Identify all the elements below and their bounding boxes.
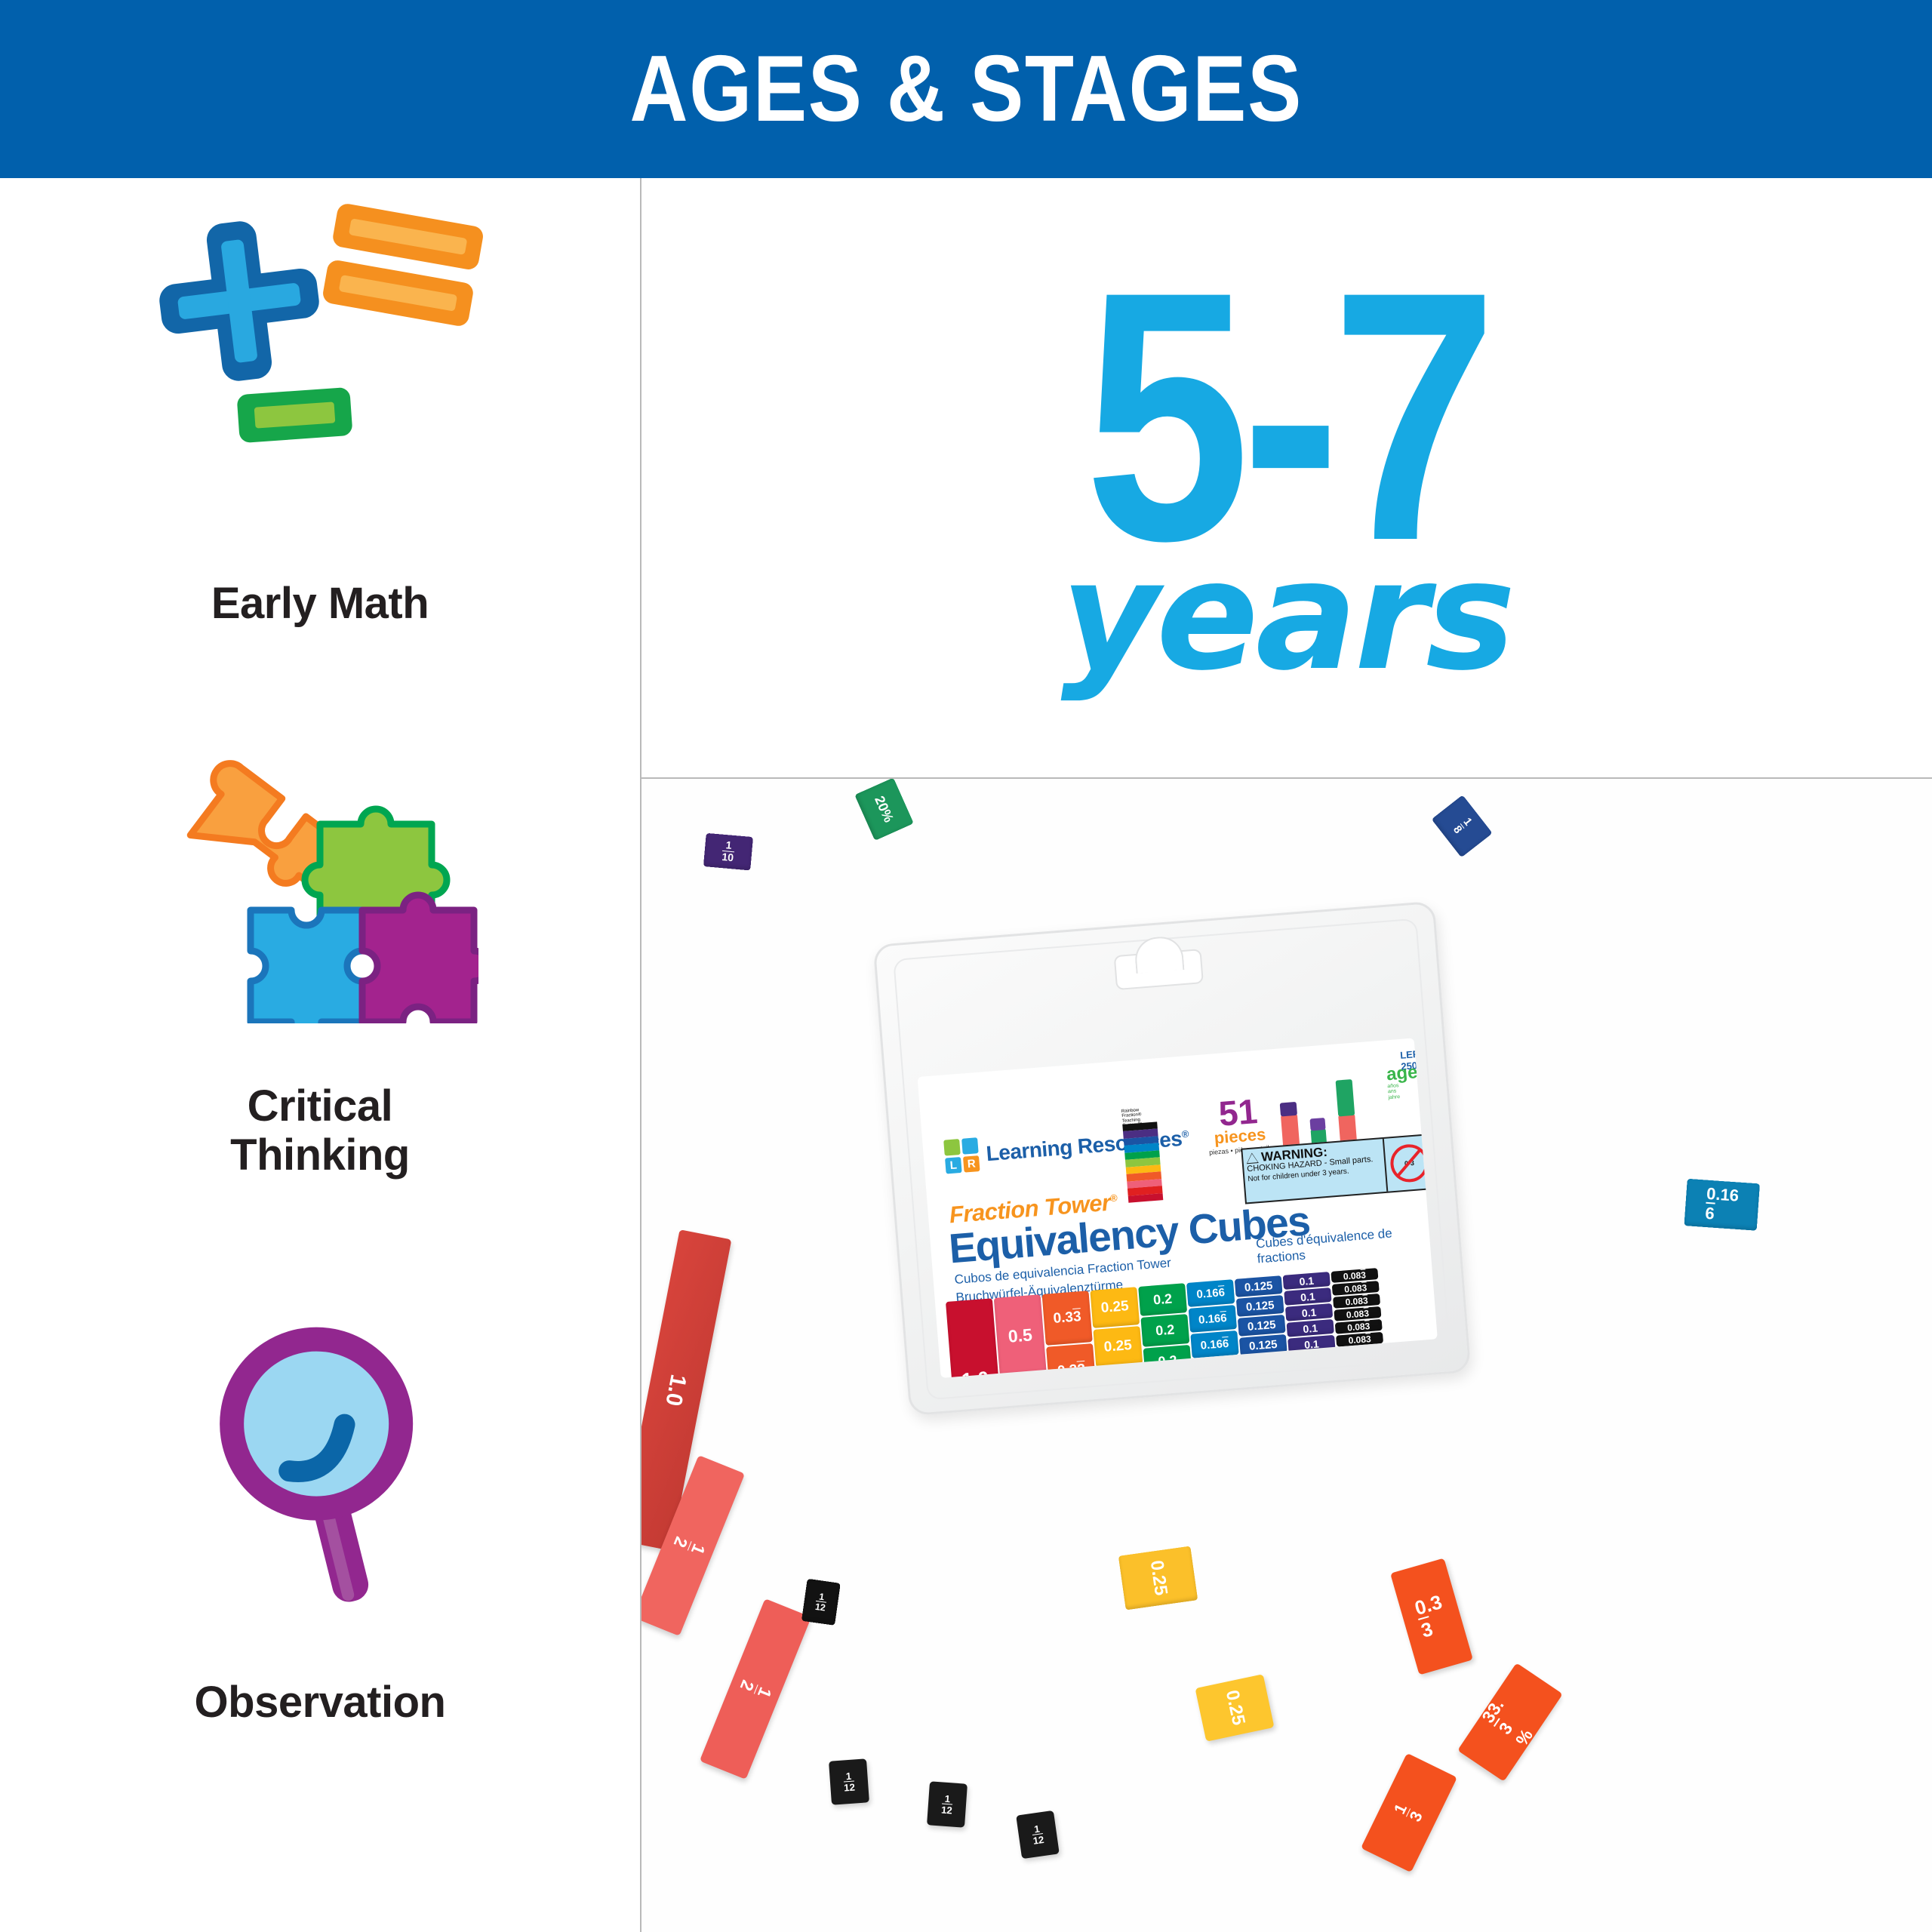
feature-critical-thinking: Critical Thinking (0, 752, 640, 1180)
cube-piece: 20% (855, 779, 914, 841)
cube-piece: 0.125 (1236, 1295, 1284, 1317)
cube-piece: 112 (801, 1579, 840, 1626)
cube-piece: 0.1 (1284, 1287, 1331, 1306)
cube-piece: 0.125 (1238, 1315, 1286, 1337)
cube-piece: 0.1 (1287, 1335, 1335, 1353)
ages-langs: años ans jahre (1387, 1081, 1429, 1100)
age-range-value: 5-7 (1084, 271, 1488, 561)
product-package: L R Learning Resources® Rainbow Fraction… (873, 901, 1472, 1417)
ages-value: 6+ (1431, 1069, 1438, 1097)
cube-piece: 0.1 (1287, 1319, 1334, 1337)
header-banner: AGES & STAGES (0, 0, 1932, 178)
cube-piece: 0.1 (1283, 1272, 1331, 1290)
cube-piece: 0.25 (1090, 1287, 1140, 1328)
cube-piece: 0.166 (1189, 1305, 1237, 1333)
cube-piece: 0.33 (1046, 1343, 1097, 1378)
cube-piece: 0.083 (1338, 1358, 1386, 1373)
cube-piece: 0.166 (1186, 1279, 1235, 1307)
cube-piece: 0.166 (1684, 1179, 1760, 1231)
feature-label-early-math: Early Math (0, 580, 640, 629)
brand-registered-mark: ® (1181, 1128, 1189, 1140)
cube-piece: 18 (1432, 795, 1492, 857)
cube-piece: 0.25 (1093, 1326, 1143, 1367)
cube-piece: 0.2 (1140, 1314, 1189, 1347)
cube-piece: 0.166 (1192, 1356, 1241, 1378)
ages-word: ages (1386, 1063, 1428, 1084)
pink-half-bar: 12 (700, 1598, 811, 1780)
feature-early-math: Early Math (0, 208, 640, 629)
age-icon-label: 0-3 (1404, 1159, 1415, 1168)
yellow-quarter-loose-cube: 0.25 (1195, 1674, 1275, 1742)
cube-piece: 0.125 (1235, 1275, 1283, 1297)
orange-third-decimal-piece: 0.33 (1390, 1558, 1473, 1675)
cube-piece: 0.166 (1190, 1331, 1238, 1358)
product-line-registered-mark: ® (1109, 1192, 1117, 1204)
black-twelfth-loose-cube: 112 (927, 1781, 968, 1827)
age-restriction-icon-cell: 0-3 (1383, 1135, 1435, 1192)
black-twelfth-loose-cube: 112 (829, 1758, 869, 1804)
cube-piece: 0.2 (1146, 1376, 1195, 1378)
age-range-panel: 5-7 years (641, 180, 1932, 776)
feature-label-critical-thinking-line2: Thinking (0, 1131, 640, 1180)
cube-piece: 0.083 (1337, 1345, 1384, 1360)
warning-triangle-icon (1246, 1152, 1259, 1164)
cube-piece: 0.083 (1339, 1371, 1386, 1378)
magnifying-glass-icon (207, 1303, 433, 1589)
pink-bar-label: 12 (737, 1678, 774, 1700)
cube-piece: 0.083 (1336, 1332, 1383, 1347)
equals-sign-icon (315, 202, 488, 362)
orange-third-fraction-piece: 13 (1361, 1753, 1457, 1872)
red-bar-label: 1.0 (660, 1372, 691, 1407)
cube-piece: 0.5 (994, 1294, 1047, 1377)
cube-piece: 0.25 (1118, 1546, 1198, 1611)
black-twelfth-loose-cube: 112 (1016, 1810, 1060, 1859)
feature-observation: Observation (0, 1303, 640, 1727)
math-symbols-icon (154, 208, 486, 495)
feature-sidebar: Early Math Critical Thinking (0, 178, 640, 1932)
cube-piece: 0.25 (1097, 1365, 1146, 1378)
minus-sign-icon (236, 387, 353, 454)
rainbow-color-swatch (1122, 1121, 1163, 1202)
cube-piece: 0.1 (1290, 1367, 1337, 1378)
cube-piece: 0.33 (1042, 1291, 1093, 1346)
ages-badge: ages años ans jahre 6+ (1386, 1060, 1438, 1100)
page-title: AGES & STAGES (629, 42, 1302, 136)
product-photo: 110 110 110 110 110 110 110 110 110 110 … (641, 779, 1932, 1932)
cube-piece: 0.2 (1138, 1283, 1187, 1316)
package-label: L R Learning Resources® Rainbow Fraction… (917, 1038, 1437, 1378)
feature-label-observation: Observation (0, 1678, 640, 1727)
package-hang-hole (1114, 949, 1204, 990)
ages-and-stages-page: AGES & STAGES Early Math (0, 0, 1932, 1932)
pink-bar-label: 12 (670, 1534, 707, 1557)
cube-piece: 0.1 (1285, 1303, 1333, 1321)
cube-piece: 0.5 (1000, 1374, 1053, 1378)
orange-third-percent-piece: 33.3% (1457, 1663, 1563, 1781)
no-children-under-three-icon: 0-3 (1389, 1143, 1430, 1183)
lr-logo-letter-l: L (945, 1157, 962, 1174)
lr-cube-icon: L R (943, 1137, 980, 1174)
cube-piece: 110 (703, 833, 753, 870)
cube-piece: 0.125 (1241, 1354, 1289, 1376)
cube-piece: 0.125 (1242, 1374, 1291, 1378)
cube-piece: 0.125 (1239, 1334, 1287, 1356)
plus-sign-inner (151, 213, 328, 389)
feature-label-critical-thinking-line1: Critical (0, 1082, 640, 1131)
cube-piece: 0.2 (1143, 1345, 1192, 1378)
puzzle-pieces-icon (162, 752, 478, 1023)
lr-logo-letter-r: R (963, 1155, 980, 1173)
cube-column-0-083: 0.083 0.083 0.083 0.083 0.083 0.083 0.08… (1331, 1268, 1389, 1378)
cube-piece: 0.1 (1289, 1351, 1337, 1369)
